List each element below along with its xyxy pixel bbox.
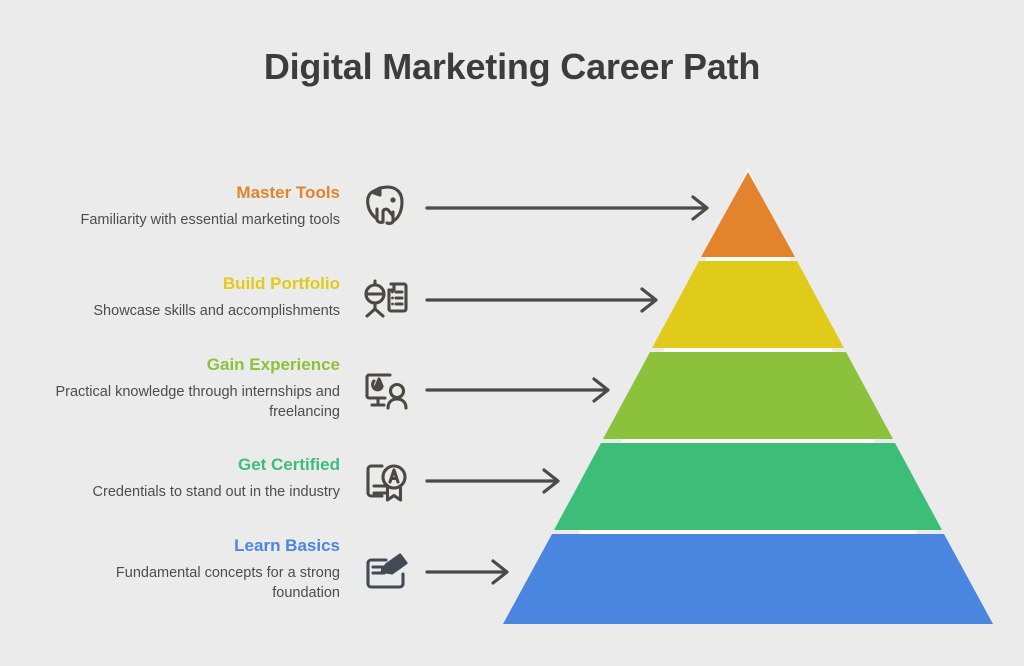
step-description-gain-experience: Practical knowledge through internships …	[0, 382, 340, 422]
arrow-to-build-portfolio	[427, 289, 656, 311]
step-description-master-tools: Familiarity with essential marketing too…	[0, 210, 340, 230]
step-row-get-certified: Get Certified Credentials to stand out i…	[0, 454, 348, 502]
elephant-icon	[360, 178, 412, 230]
certificate-award-icon	[360, 455, 412, 507]
step-title-gain-experience: Gain Experience	[0, 354, 340, 375]
step-title-get-certified: Get Certified	[0, 454, 340, 475]
step-description-get-certified: Credentials to stand out in the industry	[0, 482, 340, 502]
step-row-gain-experience: Gain Experience Practical knowledge thro…	[0, 354, 348, 422]
arrow-to-get-certified	[427, 470, 558, 492]
step-title-learn-basics: Learn Basics	[0, 535, 340, 556]
presentation-person-icon	[360, 364, 412, 416]
step-title-master-tools: Master Tools	[0, 182, 340, 203]
arrow-to-gain-experience	[427, 379, 608, 401]
arrow-to-learn-basics	[427, 561, 507, 583]
step-row-build-portfolio: Build Portfolio Showcase skills and acco…	[0, 273, 348, 321]
step-row-learn-basics: Learn Basics Fundamental concepts for a …	[0, 535, 348, 603]
person-clipboard-icon	[360, 271, 412, 323]
step-row-master-tools: Master Tools Familiarity with essential …	[0, 182, 348, 230]
step-description-learn-basics: Fundamental concepts for a strong founda…	[0, 563, 340, 603]
megaphone-icon	[360, 546, 412, 598]
infographic-canvas: Digital Marketing Career Path	[0, 0, 1024, 666]
step-title-build-portfolio: Build Portfolio	[0, 273, 340, 294]
step-description-build-portfolio: Showcase skills and accomplishments	[0, 301, 340, 321]
arrow-to-master-tools	[427, 197, 707, 219]
